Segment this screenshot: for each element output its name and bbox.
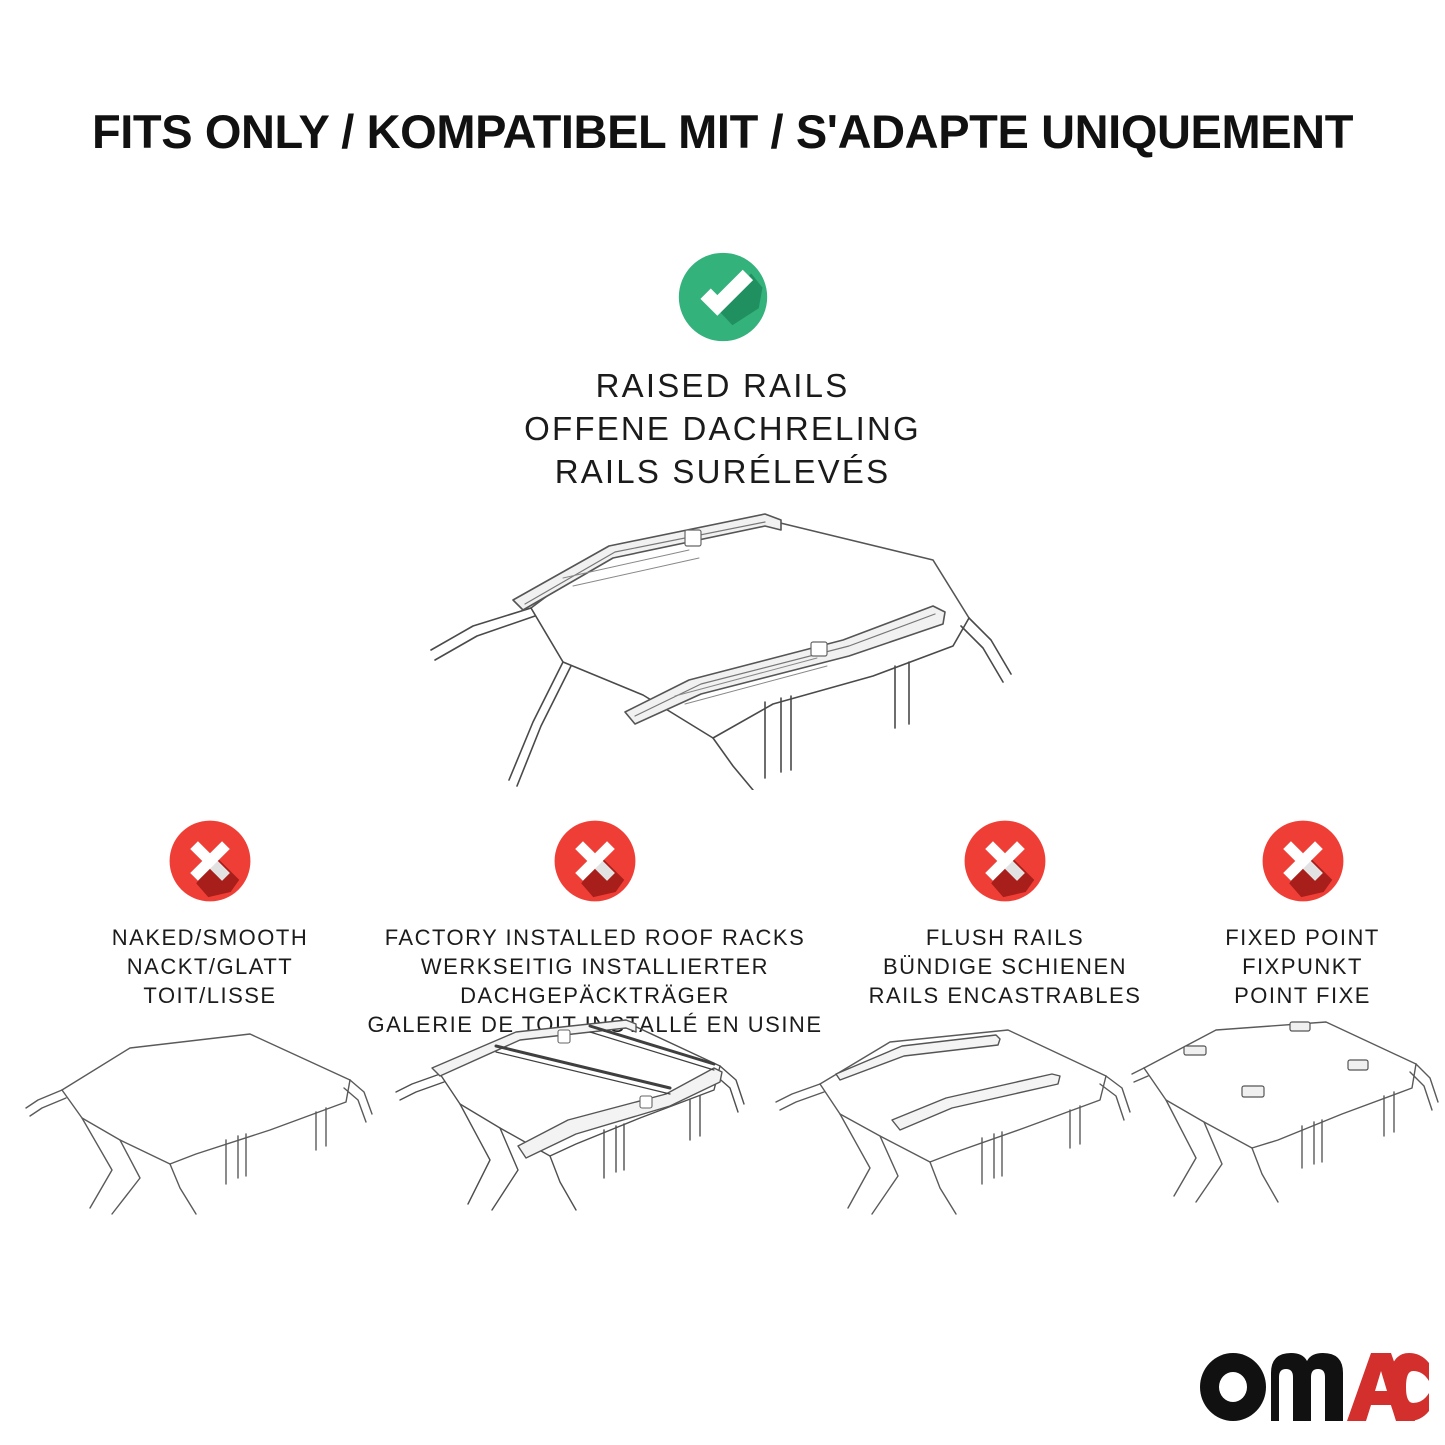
incompatible-labels: FLUSH RAILS BÜNDIGE SCHIENEN RAILS ENCAS…: [840, 923, 1170, 1010]
car-roof-naked-smooth-illustration: [20, 1018, 400, 1248]
incompatible-labels: FIXED POINT FIXPUNKT POINT FIXE: [1165, 923, 1440, 1010]
label-en: FIXED POINT: [1165, 923, 1440, 952]
label-fr: TOIT/LISSE: [40, 981, 380, 1010]
x-circle-icon: [1260, 818, 1346, 904]
incompatible-item-fixed-point: FIXED POINT FIXPUNKT POINT FIXE: [1165, 818, 1440, 1010]
incompatible-item-factory-roof-racks: FACTORY INSTALLED ROOF RACKS WERKSEITIG …: [360, 818, 830, 1039]
incompatible-labels: NAKED/SMOOTH NACKT/GLATT TOIT/LISSE: [40, 923, 380, 1010]
x-circle-icon: [962, 818, 1048, 904]
compatible-label-de: OFFENE DACHRELING: [0, 408, 1445, 451]
compatible-label-en: RAISED RAILS: [0, 365, 1445, 408]
label-en: FLUSH RAILS: [840, 923, 1170, 952]
label-en: NAKED/SMOOTH: [40, 923, 380, 952]
label-de: FIXPUNKT: [1165, 952, 1440, 981]
compatible-icon-wrap: [0, 250, 1445, 349]
check-circle-icon: [676, 250, 770, 344]
incompatible-item-flush-rails: FLUSH RAILS BÜNDIGE SCHIENEN RAILS ENCAS…: [840, 818, 1170, 1010]
car-roof-flush-rails-illustration: [770, 1018, 1160, 1243]
car-roof-raised-rails-illustration: [0, 490, 1445, 795]
compatible-labels: RAISED RAILS OFFENE DACHRELING RAILS SUR…: [0, 365, 1445, 494]
label-fr: POINT FIXE: [1165, 981, 1440, 1010]
label-de: NACKT/GLATT: [40, 952, 380, 981]
compatible-label-fr: RAILS SURÉLEVÉS: [0, 451, 1445, 494]
compatible-section: RAISED RAILS OFFENE DACHRELING RAILS SUR…: [0, 250, 1445, 494]
incompatible-item-naked-smooth: NAKED/SMOOTH NACKT/GLATT TOIT/LISSE: [40, 818, 380, 1010]
car-roof-factory-rack-illustration: [390, 1018, 780, 1258]
label-de-2: DACHGEPÄCKTRÄGER: [360, 981, 830, 1010]
label-de: BÜNDIGE SCHIENEN: [840, 952, 1170, 981]
page-title: FITS ONLY / KOMPATIBEL MIT / S'ADAPTE UN…: [0, 104, 1445, 159]
omac-logo: [1197, 1351, 1429, 1423]
label-en: FACTORY INSTALLED ROOF RACKS: [360, 923, 830, 952]
car-roof-fixed-point-illustration: [1130, 1018, 1445, 1243]
x-circle-icon: [552, 818, 638, 904]
label-de-1: WERKSEITIG INSTALLIERTER: [360, 952, 830, 981]
x-circle-icon: [167, 818, 253, 904]
label-fr: RAILS ENCASTRABLES: [840, 981, 1170, 1010]
